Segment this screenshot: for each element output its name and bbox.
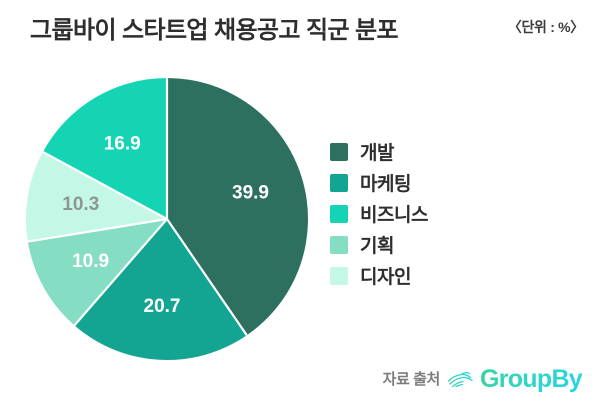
pie-slice-value-label: 39.9 [232, 183, 269, 204]
pie-chart-svg: 39.920.710.910.316.9 [26, 78, 308, 360]
legend-item[interactable]: 마케팅 [330, 167, 510, 198]
legend-item[interactable]: 디자인 [330, 260, 510, 291]
unit-note: 〈단위 : %〉 [508, 17, 584, 37]
pie-slice-value-label: 20.7 [144, 296, 181, 317]
source-attribution: 자료 출처 GroupBy [383, 366, 582, 392]
legend-swatch [330, 143, 348, 161]
brand-logo: GroupBy [447, 366, 582, 392]
pie-slice-value-label: 16.9 [104, 133, 141, 154]
legend-item[interactable]: 개발 [330, 136, 510, 167]
legend-item-label: 개발 [360, 138, 394, 165]
legend-item-label: 비즈니스 [360, 200, 428, 227]
legend-item-label: 마케팅 [360, 169, 411, 196]
brand-name: GroupBy [480, 366, 582, 392]
chart-figure: 그룹바이 스타트업 채용공고 직군 분포 〈단위 : %〉 39.920.710… [0, 0, 600, 410]
source-label: 자료 출처 [383, 368, 440, 389]
chart-legend: 개발마케팅비즈니스기획디자인 [330, 136, 510, 291]
chart-header: 그룹바이 스타트업 채용공고 직군 분포 〈단위 : %〉 [0, 0, 600, 56]
pie-slice-value-label: 10.9 [72, 251, 109, 272]
handshake-icon [447, 368, 475, 390]
pie-chart: 39.920.710.910.316.9 [26, 78, 308, 360]
pie-slice-value-label: 10.3 [62, 194, 99, 215]
legend-item[interactable]: 기획 [330, 229, 510, 260]
legend-item-label: 디자인 [360, 262, 411, 289]
legend-item[interactable]: 비즈니스 [330, 198, 510, 229]
page-title: 그룹바이 스타트업 채용공고 직군 분포 [30, 10, 398, 45]
legend-swatch [330, 267, 348, 285]
legend-swatch [330, 174, 348, 192]
legend-swatch [330, 205, 348, 223]
legend-swatch [330, 236, 348, 254]
legend-item-label: 기획 [360, 231, 394, 258]
